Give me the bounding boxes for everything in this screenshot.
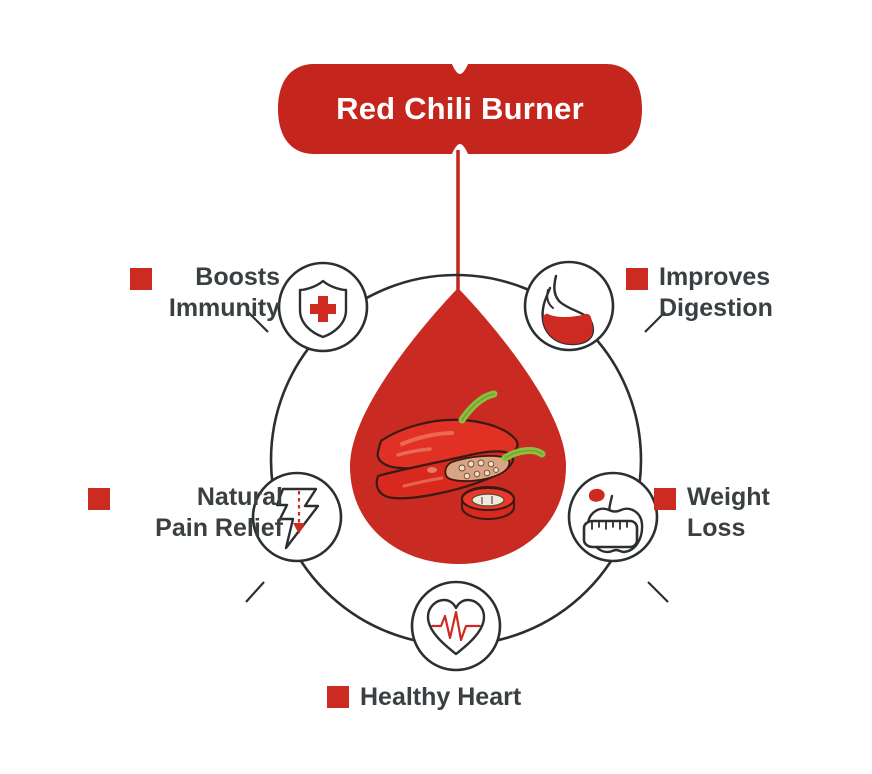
- benefit-label-improves-digestion[interactable]: Improves Digestion: [626, 262, 826, 323]
- spoke-pain: [246, 582, 264, 602]
- benefit-label-text: Natural Pain Relief: [121, 482, 283, 543]
- benefit-label-boosts-immunity[interactable]: Boosts Immunity: [130, 262, 280, 323]
- bullet-square-icon: [654, 488, 676, 510]
- icon-circle-healthy-heart[interactable]: [412, 582, 500, 670]
- bullet-square-icon: [327, 686, 349, 708]
- benefit-label-natural-pain-relief[interactable]: Natural Pain Relief: [88, 482, 283, 543]
- diagram-svg: [0, 0, 872, 774]
- bullet-square-icon: [626, 268, 648, 290]
- benefit-label-weight-loss[interactable]: Weight Loss: [654, 482, 834, 543]
- benefit-label-text: Boosts Immunity: [163, 262, 280, 323]
- icon-circle-improves-digestion[interactable]: [525, 262, 613, 350]
- benefit-label-text: Improves Digestion: [659, 262, 773, 323]
- bullet-square-icon: [130, 268, 152, 290]
- icon-circle-weight-loss[interactable]: [569, 473, 657, 561]
- chili-slice: [462, 487, 514, 519]
- benefit-label-text: Healthy Heart: [360, 682, 521, 713]
- icon-circle-boosts-immunity[interactable]: [279, 263, 367, 351]
- bullet-square-icon: [88, 488, 110, 510]
- infographic-canvas: Red Chili Burner: [0, 0, 872, 774]
- benefit-label-healthy-heart[interactable]: Healthy Heart: [327, 682, 577, 713]
- benefit-label-text: Weight Loss: [687, 482, 770, 543]
- spoke-weight: [648, 582, 668, 602]
